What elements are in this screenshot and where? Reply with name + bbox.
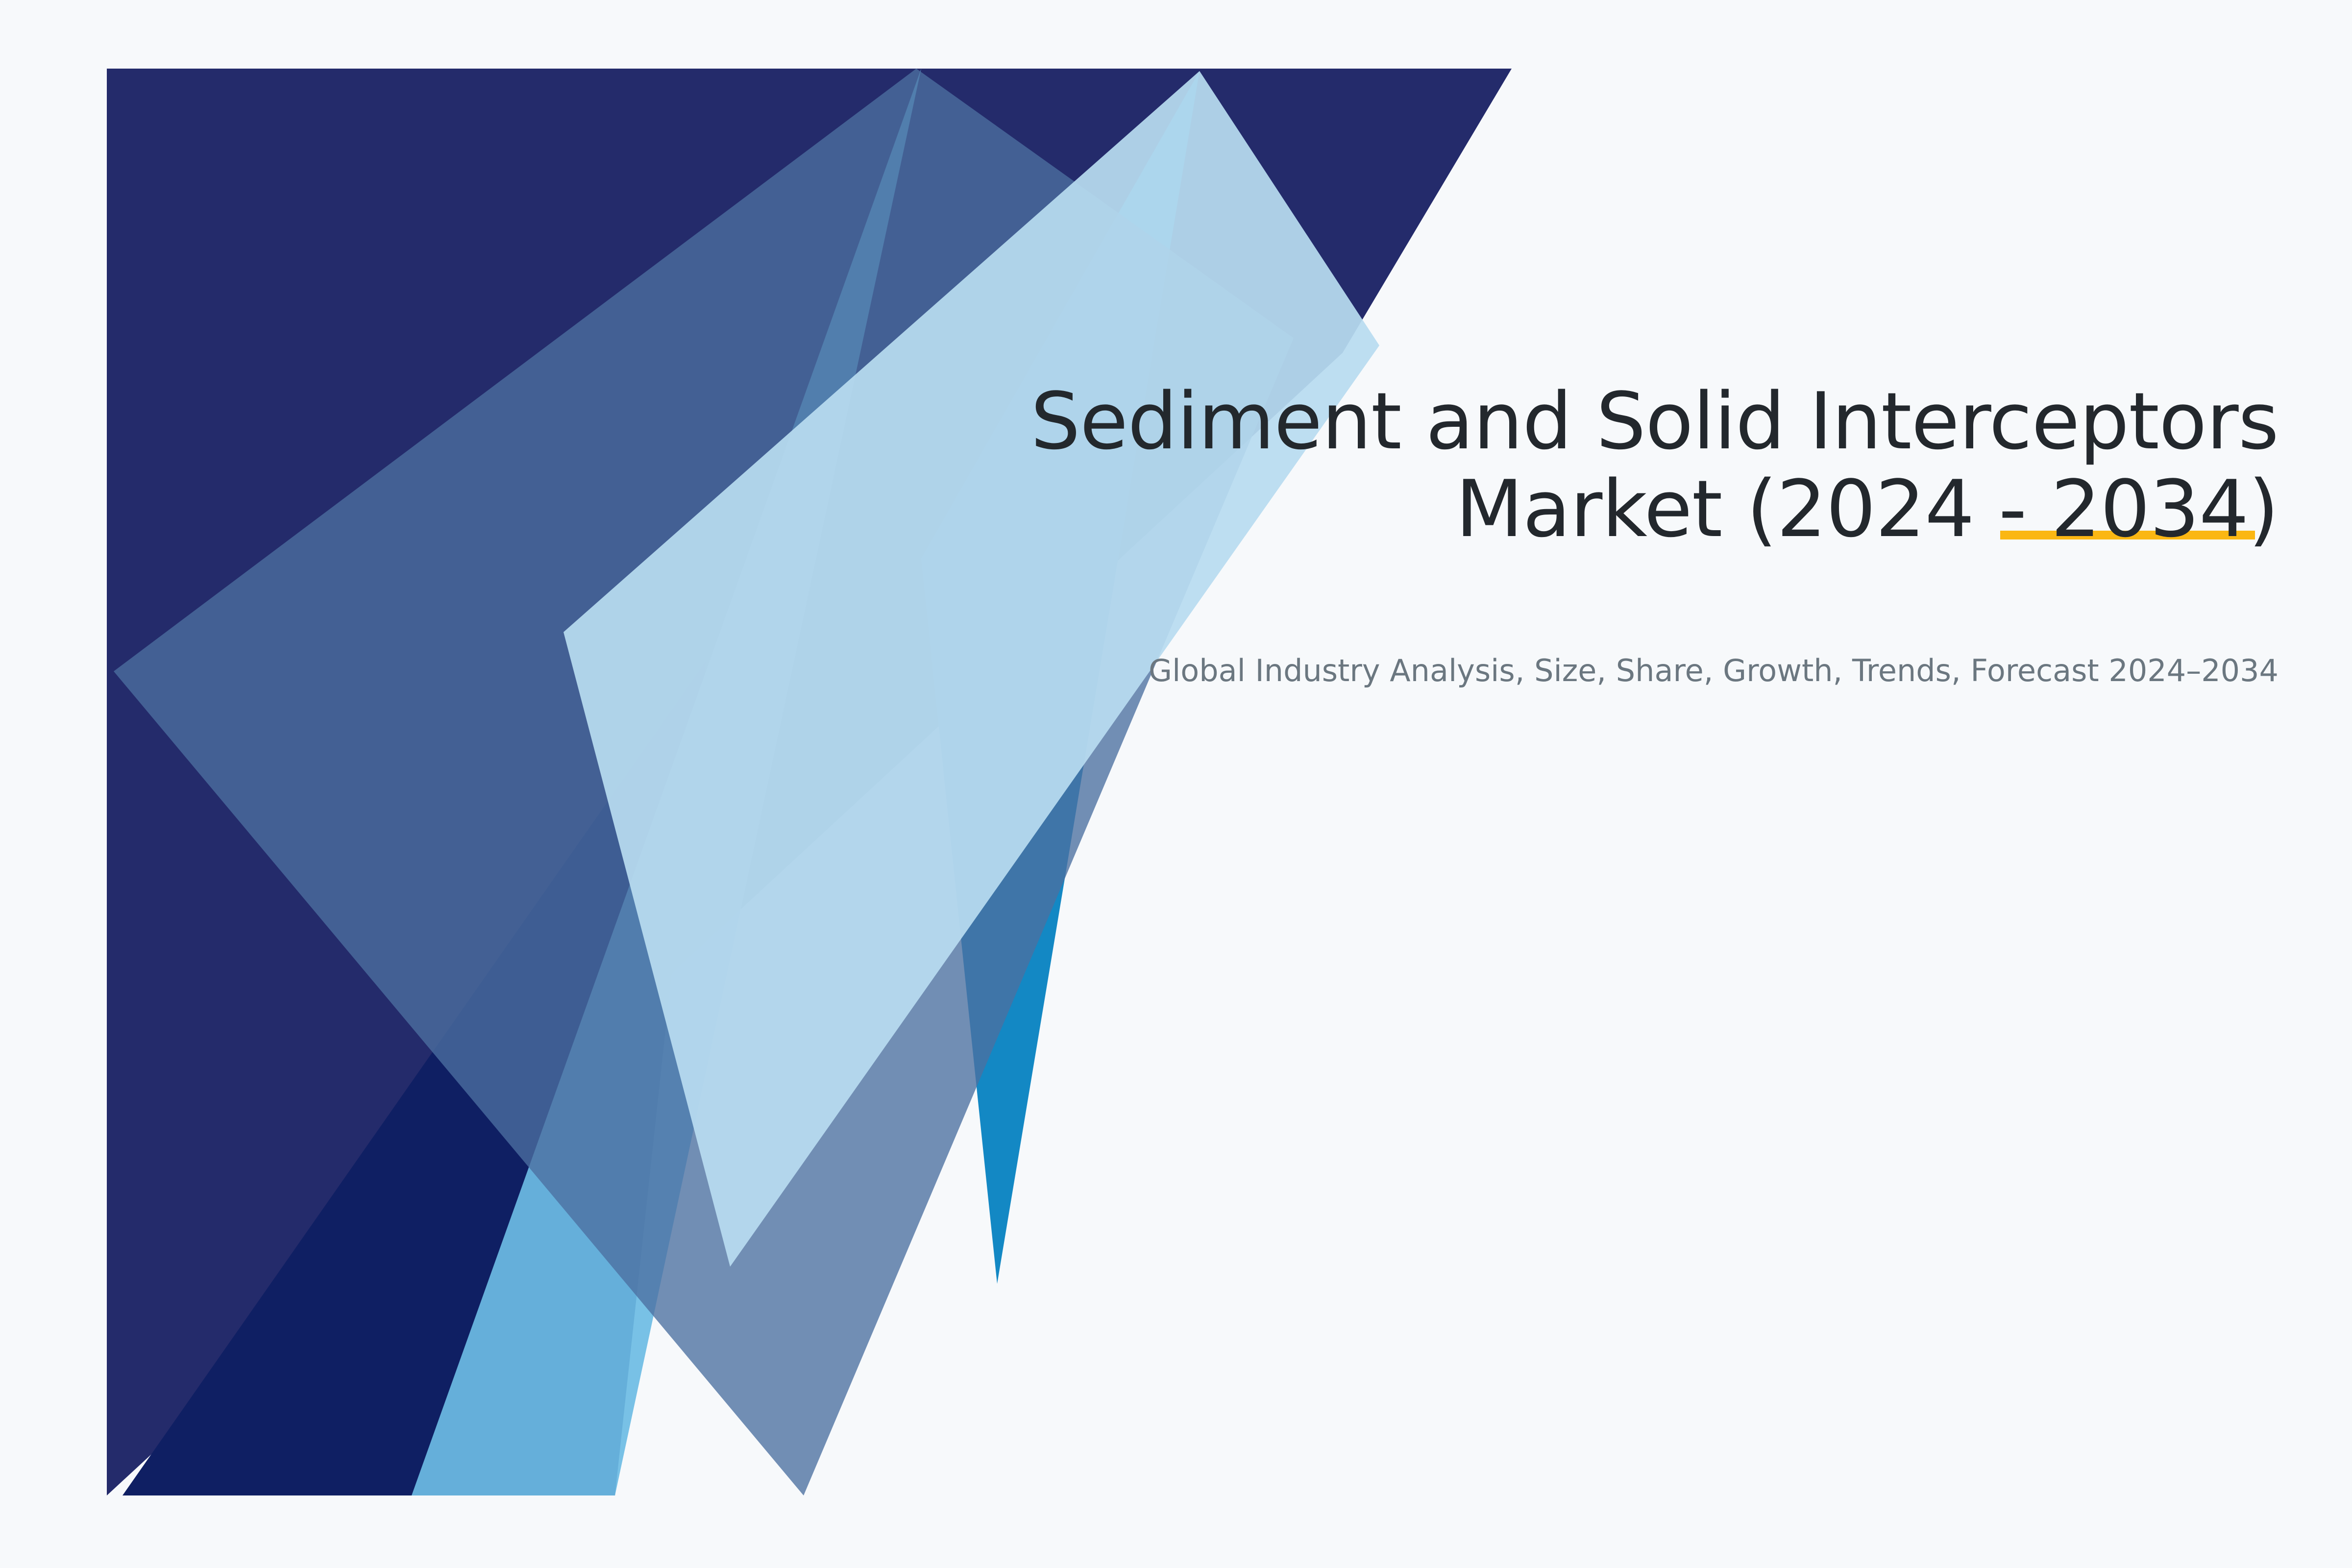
cover-artwork — [0, 0, 2352, 1568]
page-subtitle: Global Industry Analysis, Size, Share, G… — [955, 553, 2278, 691]
artwork-mask-right-upper — [1343, 69, 2352, 1495]
artwork-mask-bottom — [0, 1495, 2352, 1568]
cover-text-block: Sediment and Solid Interceptors Market (… — [955, 377, 2278, 691]
page-title: Sediment and Solid Interceptors Market (… — [955, 377, 2278, 553]
artwork-mask-top — [0, 0, 2352, 69]
artwork-mask-left — [0, 0, 107, 1568]
report-cover-page: Sediment and Solid Interceptors Market (… — [0, 0, 2352, 1568]
